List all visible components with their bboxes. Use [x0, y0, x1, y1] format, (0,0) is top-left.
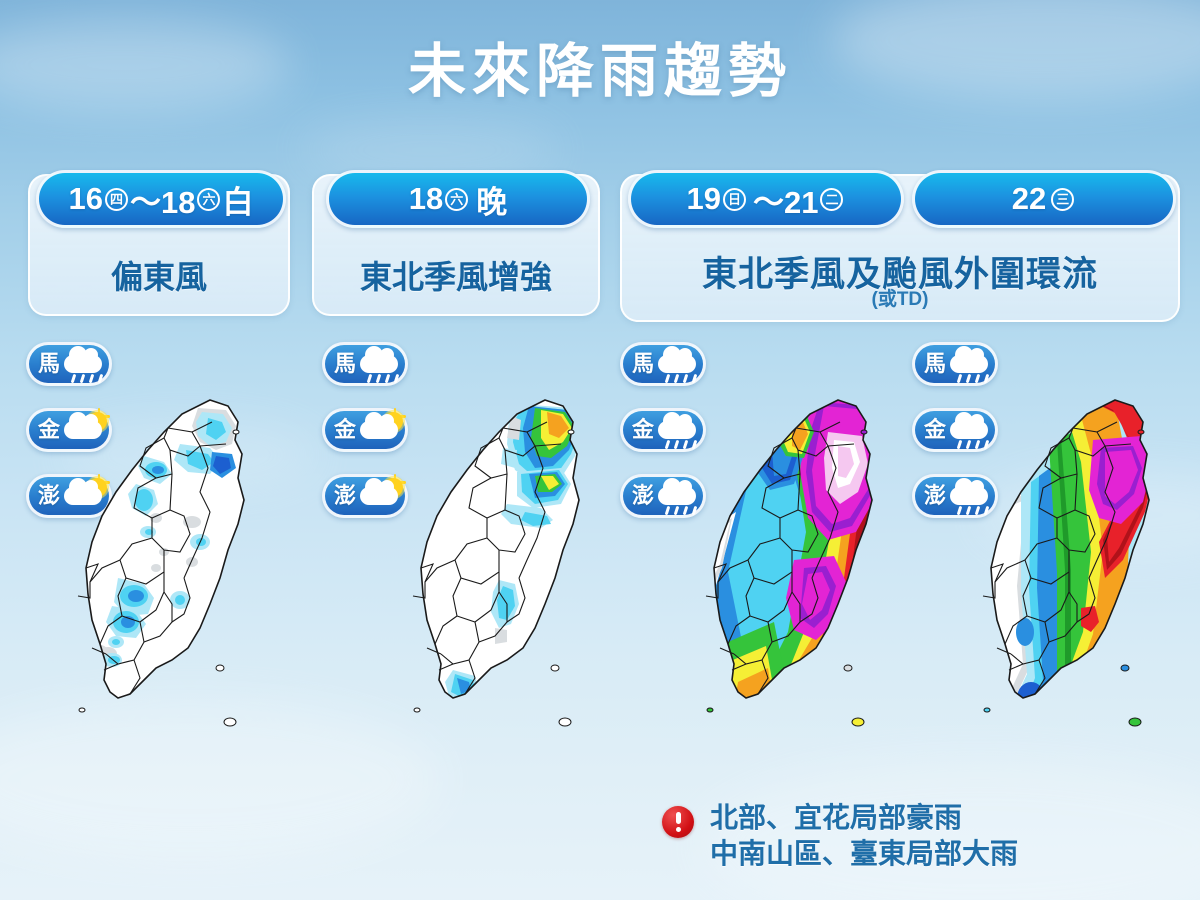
weekday-circle-sun: 日	[723, 188, 746, 211]
island-badge-matsu-p1[interactable]: 馬	[26, 342, 112, 386]
island-label-penghu: 澎	[630, 485, 656, 507]
island-label-kinmen: 金	[332, 419, 358, 441]
warning-line-2: 中南山區、臺東局部大雨	[710, 836, 1182, 872]
island-label-matsu: 馬	[332, 353, 358, 375]
rain-map-19-21[interactable]	[688, 392, 918, 792]
island-label-kinmen: 金	[630, 419, 656, 441]
date-badge-range: ～18	[130, 177, 195, 222]
date-badge-number: 19	[687, 181, 721, 217]
date-badge-22[interactable]: 22 三	[912, 170, 1176, 228]
rain-map-22[interactable]	[965, 392, 1195, 792]
island-label-penghu: 澎	[922, 485, 948, 507]
weekday-circle-tue: 二	[820, 188, 843, 211]
warning-lines: 北部、宜花局部豪雨 中南山區、臺東局部大雨	[710, 800, 1182, 872]
date-badge-daypart: 白	[222, 177, 253, 222]
forecast-description-3-sub: (或TD)	[622, 284, 1178, 311]
forecast-description-1: 偏東風	[30, 252, 288, 298]
island-label-penghu: 澎	[36, 485, 62, 507]
warning-line-1: 北部、宜花局部豪雨	[710, 800, 1182, 836]
weekday-circle-wed: 三	[1051, 188, 1074, 211]
page-title: 未來降雨趨勢	[0, 24, 1200, 108]
island-label-matsu: 馬	[36, 353, 62, 375]
island-badge-matsu-p3[interactable]: 馬	[620, 342, 706, 386]
forecast-description-2: 東北季風增強	[314, 252, 598, 298]
date-badge-19-21[interactable]: 19 日 ～21 二	[628, 170, 904, 228]
date-badge-daypart: 晚	[476, 177, 507, 222]
date-badge-range: ～21	[753, 177, 818, 222]
rain-cloud-icon	[358, 346, 406, 382]
date-badge-16-18[interactable]: 16 四 ～18 六 白	[36, 170, 286, 228]
rain-map-16-18-day[interactable]	[60, 392, 290, 792]
island-badge-matsu-p2[interactable]: 馬	[322, 342, 408, 386]
rain-map-18-night[interactable]	[395, 392, 625, 792]
island-badge-matsu-p4[interactable]: 馬	[912, 342, 998, 386]
forecast-period-cards: 16 四 ～18 六 白 偏東風 18 六 晚 東北季風增強 19 日 ～21 …	[0, 174, 1200, 324]
date-badge-18-night[interactable]: 18 六 晚	[326, 170, 590, 228]
island-label-kinmen: 金	[922, 419, 948, 441]
forecast-card-1: 16 四 ～18 六 白 偏東風	[28, 174, 290, 316]
forecast-card-2: 18 六 晚 東北季風增強	[312, 174, 600, 316]
date-badge-number: 22	[1012, 181, 1046, 217]
rain-cloud-icon	[948, 346, 996, 382]
rain-cloud-icon	[656, 346, 704, 382]
island-label-matsu: 馬	[630, 353, 656, 375]
forecast-card-3: 19 日 ～21 二 22 三 東北季風及颱風外圍環流 (或TD)	[620, 174, 1180, 322]
island-label-penghu: 澎	[332, 485, 358, 507]
warning-note: 北部、宜花局部豪雨 中南山區、臺東局部大雨	[662, 800, 1182, 872]
date-badge-number: 18	[409, 181, 443, 217]
date-badge-number: 16	[69, 181, 103, 217]
island-label-matsu: 馬	[922, 353, 948, 375]
weekday-circle-sat: 六	[445, 188, 468, 211]
rain-cloud-icon	[62, 346, 110, 382]
weekday-circle-sat: 六	[197, 188, 220, 211]
island-label-kinmen: 金	[36, 419, 62, 441]
alert-exclamation-icon	[662, 806, 694, 838]
weekday-circle-thu: 四	[105, 188, 128, 211]
